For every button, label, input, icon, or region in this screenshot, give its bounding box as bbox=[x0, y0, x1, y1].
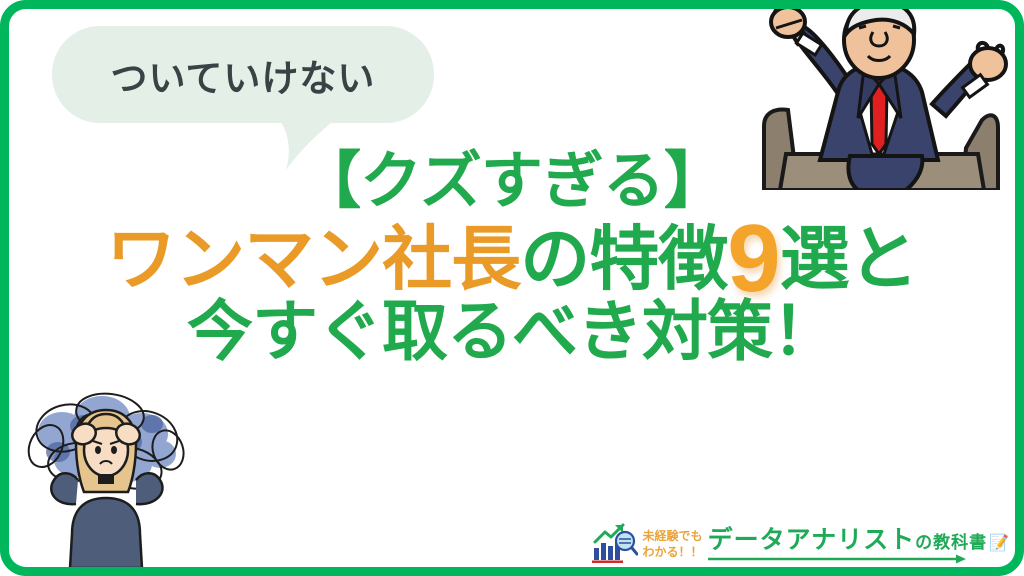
speech-bubble-body: ついていけない bbox=[52, 26, 434, 123]
speech-bubble-text: ついていけない bbox=[111, 48, 376, 102]
speech-bubble-tail-icon bbox=[274, 116, 338, 176]
headline-line1-text: 【クズすぎる】 bbox=[299, 147, 725, 216]
speech-bubble: ついていけない bbox=[52, 26, 434, 123]
headline-line2-part2: の特徴 bbox=[520, 220, 727, 298]
businessman-illustration bbox=[746, 8, 1012, 190]
logo-brand-suffix: の教科書 bbox=[915, 534, 987, 552]
logo-underline-arrow-icon bbox=[708, 554, 966, 564]
memo-pencil-icon: 📝 bbox=[989, 536, 1010, 553]
thumbnail-canvas: ついていけない 【クズすぎる】 ワンマン社長の特徴9選と 今すぐ取るべき対策！ bbox=[0, 0, 1024, 576]
logo-tagline-line-1: 未経験でも bbox=[643, 529, 703, 544]
headline-line2-part3: 選と bbox=[780, 220, 918, 298]
logo-tagline-line-2: わかる！！ bbox=[643, 545, 703, 560]
stressed-woman-illustration bbox=[10, 388, 206, 568]
brand-logo[interactable]: 未経験でも わかる！！ データアナリストの教科書📝 bbox=[592, 512, 1010, 564]
headline-number-badge: 9 bbox=[727, 225, 779, 292]
logo-tagline: 未経験でも わかる！！ bbox=[643, 529, 703, 564]
headline-line-2: ワンマン社長の特徴9選と bbox=[0, 217, 1024, 295]
headline-line2-part1: ワンマン社長 bbox=[106, 220, 520, 298]
bar-chart-magnifier-icon bbox=[592, 522, 638, 564]
logo-brand-main: データアナリスト bbox=[708, 527, 916, 553]
headline-line-3: 今すぐ取るべき対策！ bbox=[0, 298, 1024, 365]
logo-brand-name: データアナリストの教科書📝 bbox=[708, 527, 1010, 553]
logo-brand-block: データアナリストの教科書📝 bbox=[708, 527, 1010, 564]
